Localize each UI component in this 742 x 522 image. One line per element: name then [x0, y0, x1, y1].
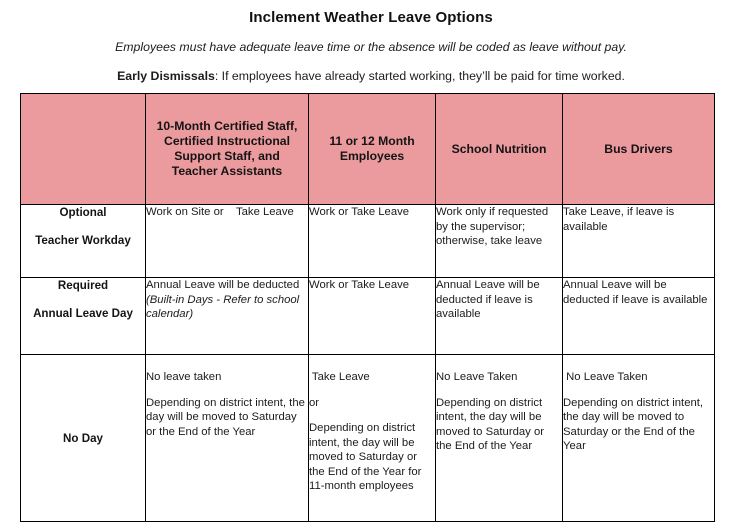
- cell-required-eleven-or-twelve-month: Work or Take Leave: [309, 278, 436, 355]
- cell-text: Annual Leave will be deducted: [146, 279, 299, 291]
- row-label-line-1: Required: [21, 278, 145, 293]
- table-header: 10-Month Certified Staff, Certified Inst…: [21, 94, 715, 205]
- table-header-corner: [21, 94, 146, 205]
- cell-paragraph: Annual Leave will be deducted if leave i…: [563, 278, 714, 307]
- cell-paragraph: Annual Leave will be deducted if leave i…: [436, 278, 562, 322]
- row-label-no-day: No Day: [21, 355, 146, 522]
- cell-required-school-nutrition: Annual Leave will be deducted if leave i…: [436, 278, 563, 355]
- cell-paragraph: Depending on district intent, the day wi…: [563, 396, 714, 454]
- cell-text-italic: (Built-in Days - Refer to school calenda…: [146, 294, 299, 321]
- cell-paragraph: Work on Site or Take Leave: [146, 205, 308, 220]
- cell-paragraph: or: [309, 396, 435, 411]
- table-row: No Day No leave taken Depending on distr…: [21, 355, 715, 522]
- cell-paragraph: Work or Take Leave: [309, 278, 435, 293]
- row-label-line-1: Optional: [21, 205, 145, 220]
- cell-paragraph: Take Leave, if leave is available: [563, 205, 714, 234]
- cell-paragraph: No Leave Taken: [436, 370, 562, 385]
- cell-required-bus-drivers: Annual Leave will be deducted if leave i…: [563, 278, 715, 355]
- cell-paragraph: Depending on district intent, the day wi…: [309, 421, 435, 494]
- row-label-line-1: No Day: [21, 431, 145, 446]
- table-header-school-nutrition: School Nutrition: [436, 94, 563, 205]
- cell-optional-school-nutrition: Work only if requested by the supervisor…: [436, 205, 563, 278]
- cell-optional-ten-month-certified: Work on Site or Take Leave: [146, 205, 309, 278]
- cell-paragraph: Depending on district intent, the day wi…: [436, 396, 562, 454]
- cell-no-day-bus-drivers: No Leave Taken Depending on district int…: [563, 355, 715, 522]
- early-dismissal-label: Early Dismissals: [117, 69, 215, 83]
- table-row: Optional Teacher Workday Work on Site or…: [21, 205, 715, 278]
- row-label-required-annual-leave-day: Required Annual Leave Day: [21, 278, 146, 355]
- cell-paragraph: No Leave Taken: [563, 370, 714, 385]
- row-label-optional-teacher-workday: Optional Teacher Workday: [21, 205, 146, 278]
- table-header-eleven-or-twelve-month: 11 or 12 Month Employees: [309, 94, 436, 205]
- leave-options-table-wrapper: 10-Month Certified Staff, Certified Inst…: [20, 93, 714, 522]
- table-body: Optional Teacher Workday Work on Site or…: [21, 205, 715, 522]
- table-header-row: 10-Month Certified Staff, Certified Inst…: [21, 94, 715, 205]
- early-dismissal-text: : If employees have already started work…: [215, 69, 625, 83]
- table-row: Required Annual Leave Day Annual Leave w…: [21, 278, 715, 355]
- row-label-line-2: Teacher Workday: [21, 233, 145, 248]
- table-header-ten-month-certified: 10-Month Certified Staff, Certified Inst…: [146, 94, 309, 205]
- leave-options-table: 10-Month Certified Staff, Certified Inst…: [20, 93, 715, 522]
- early-dismissal-note: Early Dismissals: If employees have alre…: [0, 55, 742, 84]
- document-page: Inclement Weather Leave Options Employee…: [0, 0, 742, 505]
- cell-paragraph: Annual Leave will be deducted (Built-in …: [146, 278, 308, 322]
- cell-paragraph: Work only if requested by the supervisor…: [436, 205, 562, 249]
- cell-no-day-eleven-or-twelve-month: Take Leave or Depending on district inte…: [309, 355, 436, 522]
- cell-paragraph: Work or Take Leave: [309, 205, 435, 220]
- page-title: Inclement Weather Leave Options: [0, 0, 742, 27]
- document-subtitle: Employees must have adequate leave time …: [0, 27, 742, 55]
- cell-no-day-ten-month-certified: No leave taken Depending on district int…: [146, 355, 309, 522]
- cell-paragraph: Take Leave: [309, 370, 435, 385]
- cell-no-day-school-nutrition: No Leave Taken Depending on district int…: [436, 355, 563, 522]
- cell-paragraph: No leave taken: [146, 370, 308, 385]
- cell-optional-bus-drivers: Take Leave, if leave is available: [563, 205, 715, 278]
- cell-optional-eleven-or-twelve-month: Work or Take Leave: [309, 205, 436, 278]
- row-label-line-2: Annual Leave Day: [21, 306, 145, 321]
- cell-required-ten-month-certified: Annual Leave will be deducted (Built-in …: [146, 278, 309, 355]
- cell-paragraph: Depending on district intent, the day wi…: [146, 396, 308, 440]
- table-header-bus-drivers: Bus Drivers: [563, 94, 715, 205]
